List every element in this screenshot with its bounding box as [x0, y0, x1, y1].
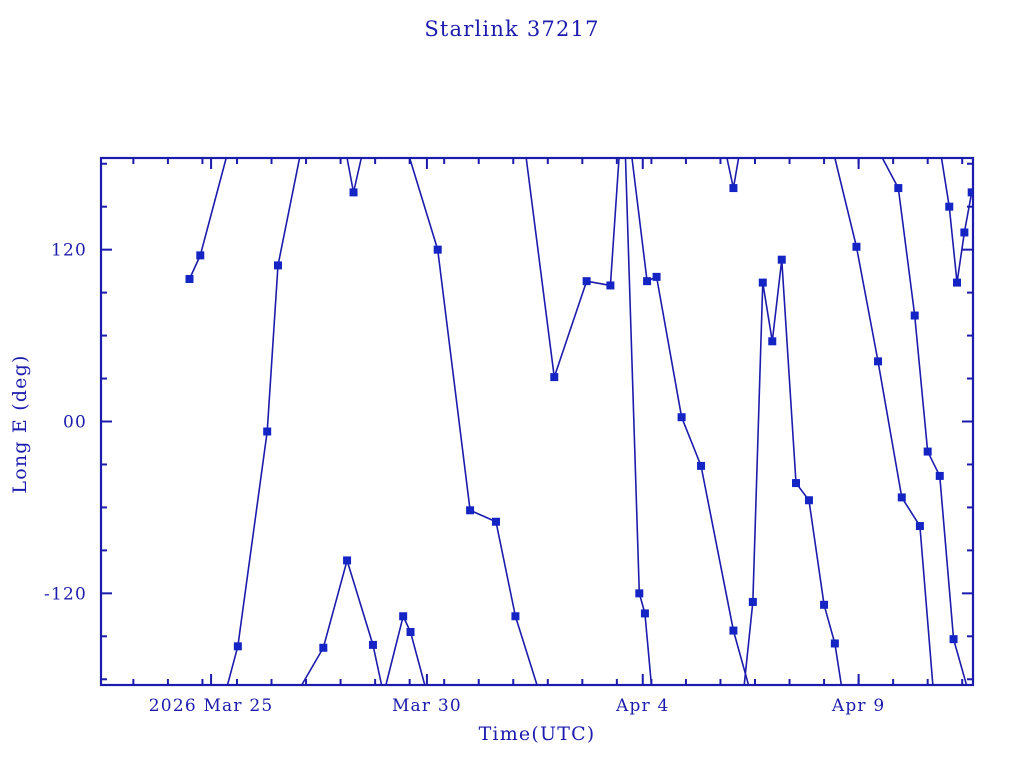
x-tick-label: 2026 Mar 25 — [149, 696, 274, 716]
data-point-marker — [821, 601, 828, 608]
data-point-marker — [875, 358, 882, 365]
data-point-marker — [197, 252, 204, 259]
data-point-marker — [946, 203, 953, 210]
data-point-marker — [583, 278, 590, 285]
data-point-marker — [607, 282, 614, 289]
plot-background — [0, 0, 1024, 768]
data-point-marker — [895, 185, 902, 192]
data-point-marker — [778, 256, 785, 263]
data-point-marker — [400, 613, 407, 620]
y-tick-label: 00 — [63, 413, 87, 433]
data-point-marker — [320, 644, 327, 651]
data-point-marker — [793, 480, 800, 487]
data-point-marker — [698, 462, 705, 469]
data-point-marker — [759, 279, 766, 286]
data-point-marker — [644, 278, 651, 285]
y-tick-label: -120 — [44, 584, 87, 604]
data-point-marker — [407, 629, 414, 636]
data-point-marker — [916, 523, 923, 530]
data-point-marker — [769, 338, 776, 345]
data-point-marker — [551, 374, 558, 381]
x-tick-label: Apr 9 — [831, 696, 886, 716]
x-axis-label: Time(UTC) — [479, 723, 596, 745]
data-point-marker — [512, 613, 519, 620]
y-axis-label: Long E (deg) — [9, 354, 31, 493]
data-point-marker — [234, 643, 241, 650]
data-point-marker — [434, 246, 441, 253]
data-point-marker — [350, 189, 357, 196]
data-point-marker — [492, 518, 499, 525]
data-point-marker — [749, 598, 756, 605]
x-tick-label: Apr 4 — [615, 696, 670, 716]
data-point-marker — [911, 312, 918, 319]
longitude-vs-time-plot: Starlink 37217 2026 Mar 25Mar 30Apr 4Apr… — [0, 0, 1024, 768]
data-point-marker — [805, 497, 812, 504]
data-point-marker — [641, 610, 648, 617]
data-point-marker — [467, 507, 474, 514]
data-point-marker — [950, 636, 957, 643]
data-point-marker — [678, 414, 685, 421]
data-point-marker — [274, 262, 281, 269]
data-point-marker — [186, 276, 193, 283]
data-point-marker — [369, 641, 376, 648]
data-point-marker — [831, 640, 838, 647]
data-point-marker — [961, 229, 968, 236]
data-point-marker — [730, 185, 737, 192]
data-point-marker — [954, 279, 961, 286]
plot-container: Starlink 37217 2026 Mar 25Mar 30Apr 4Apr… — [0, 0, 1024, 768]
data-point-marker — [636, 590, 643, 597]
data-point-marker — [924, 448, 931, 455]
x-tick-label: Mar 30 — [392, 696, 462, 716]
data-point-marker — [264, 428, 271, 435]
page-title: Starlink 37217 — [424, 17, 599, 41]
data-point-marker — [898, 494, 905, 501]
data-point-marker — [344, 557, 351, 564]
data-point-marker — [653, 273, 660, 280]
data-point-marker — [936, 472, 943, 479]
y-tick-label: 120 — [51, 241, 87, 261]
data-point-marker — [853, 243, 860, 250]
data-point-marker — [730, 627, 737, 634]
